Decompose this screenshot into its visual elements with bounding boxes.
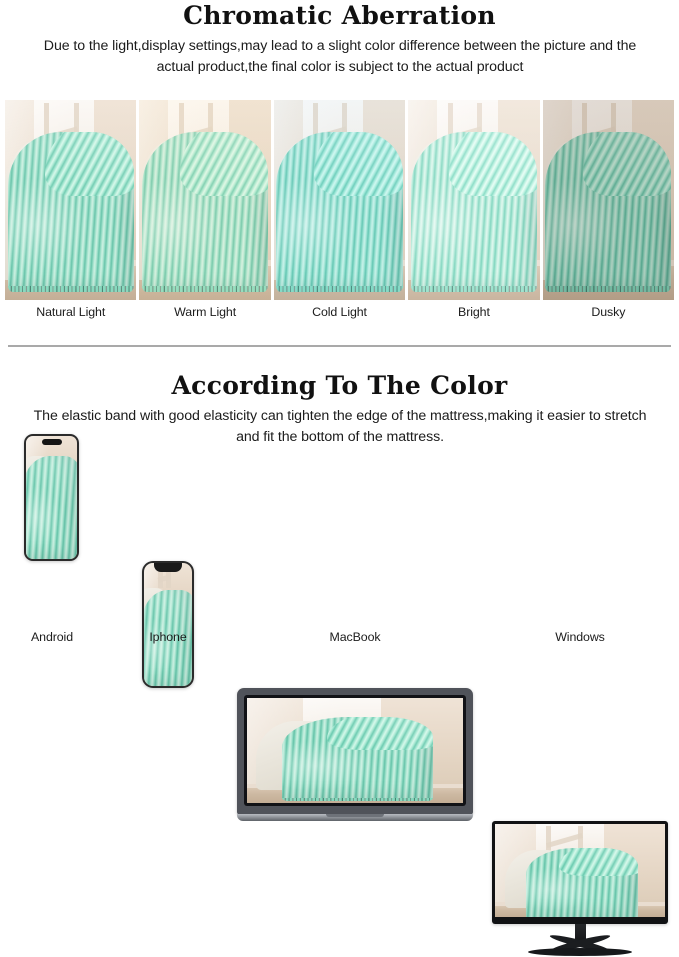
device-label-iphone: Iphone	[126, 630, 210, 644]
according-to-the-color-title: According To The Color	[0, 372, 679, 400]
macbook-base	[237, 814, 473, 821]
blanket-scene	[495, 824, 665, 917]
macbook-screen	[247, 698, 463, 803]
photo-label-natural-light: Natural Light	[5, 305, 136, 319]
blanket	[8, 132, 134, 292]
blanket-scene	[5, 100, 136, 300]
macbook-bezel	[244, 695, 466, 806]
blanket-scene	[274, 100, 405, 300]
blanket	[282, 717, 433, 801]
blanket-sheen	[411, 132, 537, 292]
blanket	[26, 456, 77, 559]
photo-label-dusky: Dusky	[543, 305, 674, 319]
blanket-scene	[144, 563, 192, 686]
blanket-sheen	[526, 848, 638, 917]
monitor-bezel	[492, 821, 668, 924]
blanket-fringe	[545, 286, 671, 292]
blanket-scene	[139, 100, 270, 300]
device-label-macbook: MacBook	[313, 630, 397, 644]
photo-label-warm-light: Warm Light	[139, 305, 270, 319]
blanket-sheen	[8, 132, 134, 292]
photo-bright	[408, 100, 539, 300]
camera-pill-icon	[42, 439, 62, 445]
device-iphone	[142, 561, 194, 688]
blanket	[411, 132, 537, 292]
android-screen	[26, 436, 77, 559]
photo-natural-light	[5, 100, 136, 300]
monitor-screen	[495, 824, 665, 917]
blanket-sheen	[282, 717, 433, 801]
lighting-photo-strip	[5, 100, 674, 300]
chromatic-aberration-subtitle: Due to the light,display settings,may le…	[24, 36, 656, 79]
device-windows	[492, 821, 668, 957]
section-divider	[8, 345, 671, 347]
photo-label-bright: Bright	[408, 305, 539, 319]
blanket	[142, 132, 268, 292]
macbook-lid	[237, 688, 473, 815]
monitor-stand-base	[528, 948, 632, 956]
device-android	[24, 434, 79, 561]
blanket	[526, 848, 638, 917]
notch-icon	[154, 563, 182, 572]
blanket-fringe	[411, 286, 537, 292]
device-label-android: Android	[10, 630, 94, 644]
blanket-fringe	[282, 798, 433, 801]
blanket-fringe	[8, 286, 134, 292]
photo-label-cold-light: Cold Light	[274, 305, 405, 319]
monitor-neck	[575, 924, 586, 940]
photo-dusky	[543, 100, 674, 300]
photo-warm-light	[139, 100, 270, 300]
blanket-scene	[543, 100, 674, 300]
blanket-fringe	[276, 286, 402, 292]
blanket-scene	[26, 436, 77, 559]
blanket-sheen	[545, 132, 671, 292]
device-preview-row: Android Iphone	[0, 470, 679, 644]
monitor-stand	[521, 940, 639, 957]
blanket	[545, 132, 671, 292]
device-label-windows: Windows	[538, 630, 622, 644]
according-to-the-color-subtitle: The elastic band with good elasticity ca…	[24, 406, 656, 449]
blanket-fringe	[142, 286, 268, 292]
blanket	[276, 132, 402, 292]
chromatic-aberration-title: Chromatic Aberration	[0, 2, 679, 30]
iphone-screen	[144, 563, 192, 686]
lighting-label-row: Natural Light Warm Light Cold Light Brig…	[5, 305, 674, 319]
blanket-scene	[247, 698, 463, 803]
blanket-sheen	[276, 132, 402, 292]
blanket-scene	[408, 100, 539, 300]
blanket-sheen	[142, 132, 268, 292]
blanket-sheen	[26, 456, 77, 559]
device-macbook	[237, 688, 473, 821]
photo-cold-light	[274, 100, 405, 300]
